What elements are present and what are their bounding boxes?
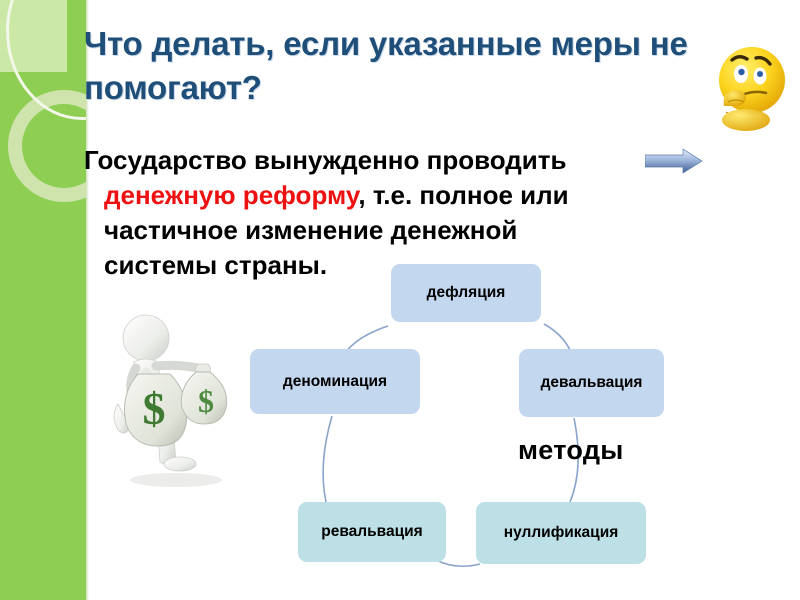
sidebar-thin-ring-decoration bbox=[6, 0, 88, 120]
highlighted-term: денежную реформу bbox=[104, 180, 358, 210]
cycle-node-revaluation[interactable]: ревальвация bbox=[298, 502, 446, 562]
cycle-node-revaluation-label: ревальвация bbox=[321, 522, 422, 541]
slide-title: Что делать, если указанные меры не помог… bbox=[84, 22, 714, 109]
body-line-2-rest: , т.е. полное или bbox=[358, 180, 568, 210]
cycle-node-deflation[interactable]: дефляция bbox=[391, 264, 541, 322]
cycle-node-denomination-label: деноминация bbox=[283, 372, 387, 391]
decorative-green-sidebar bbox=[0, 0, 88, 600]
cycle-node-devaluation[interactable]: девальвация bbox=[519, 349, 664, 417]
body-line-3: частичное изменение денежной bbox=[84, 213, 732, 248]
methods-cycle-diagram: дефляция девальвация нуллификация реваль… bbox=[240, 252, 690, 592]
arc-revaluation-to-nullification bbox=[436, 560, 480, 566]
cycle-node-nullification[interactable]: нуллификация bbox=[476, 502, 646, 564]
arc-deflation-to-devaluation bbox=[544, 324, 570, 350]
dollar-sign-right: $ bbox=[198, 383, 214, 419]
slide-canvas: Что делать, если указанные меры не помог… bbox=[0, 0, 800, 600]
body-line-1: Государство вынужденно проводить bbox=[84, 145, 566, 175]
money-bag-figure-illustration: $ $ bbox=[98, 312, 244, 490]
thinking-face-emoji bbox=[706, 36, 794, 136]
cycle-center-label: методы bbox=[518, 435, 624, 466]
cycle-node-denomination[interactable]: деноминация bbox=[250, 349, 420, 414]
arc-denomination-to-revaluation bbox=[323, 416, 332, 502]
cycle-node-deflation-label: дефляция bbox=[427, 283, 506, 302]
cycle-node-devaluation-label: девальвация bbox=[541, 373, 643, 392]
cycle-node-nullification-label: нуллификация bbox=[504, 523, 619, 542]
body-line-2: денежную реформу, т.е. полное или bbox=[84, 178, 732, 213]
dollar-sign-left: $ bbox=[143, 383, 166, 434]
